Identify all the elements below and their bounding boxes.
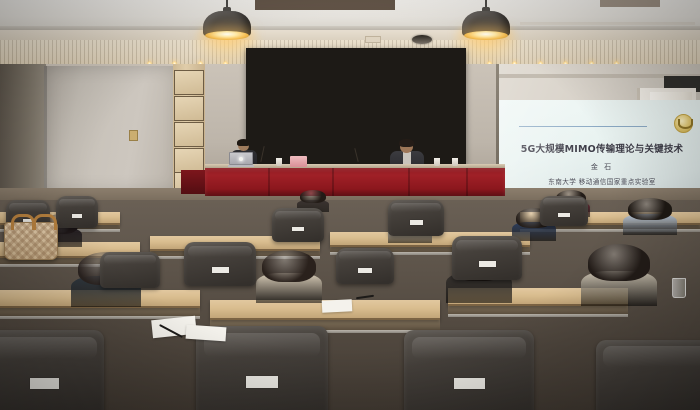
handbag-handle-right — [33, 214, 57, 230]
attendee-lightblue — [628, 198, 672, 232]
attendee-beige-coat-head — [588, 244, 650, 281]
presenter-hair — [399, 139, 414, 147]
chair-mid-2[interactable] — [272, 208, 324, 242]
ceiling-conduit — [520, 22, 695, 25]
chair-mid-4-seat-label — [358, 268, 372, 273]
skirt-fold-1 — [268, 168, 270, 196]
projection-screen-frame: 5G大规模MIMO传输理论与关键技术 金 石 东南大学 移动通信国家重点实验室 … — [246, 48, 466, 164]
wood-slab-3 — [174, 122, 204, 147]
chair-mid-4[interactable] — [336, 248, 394, 284]
chair-front-2-seat-label — [246, 376, 278, 388]
chair-right-3-seat-label — [558, 213, 570, 217]
handbag-handle-left — [11, 214, 35, 230]
chair-right-1[interactable] — [388, 200, 444, 236]
slide-title: 5G大规模MIMO传输理论与关键技术 — [499, 141, 700, 155]
attendee-lightblue-head — [628, 198, 672, 220]
paper-sheet-3 — [322, 299, 353, 313]
slide-author: 金 石 — [499, 162, 700, 172]
ceiling-sensor-icon — [365, 36, 381, 43]
chair-right-2[interactable] — [452, 236, 522, 280]
pendant-lamp-right — [462, 0, 510, 44]
wall-switch-plate[interactable] — [129, 130, 138, 141]
paper-sheet-2 — [186, 325, 227, 342]
chair-right-1-seat-label — [410, 220, 423, 225]
lecture-hall-photo: 5G大规模MIMO传输理论与关键技术 金 石 东南大学 移动通信国家重点实验室 … — [0, 0, 700, 410]
chair-front-3-seat-label — [454, 378, 485, 389]
cup-right — [452, 158, 458, 166]
wood-slab-2 — [174, 96, 204, 121]
slide-divider-rule — [519, 126, 647, 127]
presenter-shirt — [403, 152, 411, 164]
apple-logo-icon — [239, 157, 243, 161]
skirt-fold-3 — [408, 168, 410, 196]
pendant-lamp-left — [203, 0, 251, 44]
laptop-base — [228, 165, 254, 167]
cup-left — [276, 158, 282, 166]
chair-back-left-2-seat-label — [72, 214, 82, 218]
chair-back-left-2[interactable] — [56, 196, 98, 228]
slide-affiliation: 东南大学 移动通信国家重点实验室 — [499, 176, 700, 186]
chair-mid-1-seat-label — [212, 267, 229, 273]
chair-front-4[interactable] — [596, 340, 700, 410]
operator-hair — [237, 139, 250, 146]
attendee-row0-left-head — [300, 190, 326, 203]
macbook-laptop[interactable] — [228, 152, 254, 167]
attendee-plaid — [262, 250, 316, 298]
head-table-red-skirt — [205, 168, 505, 196]
drinking-glass — [672, 278, 686, 298]
attendee-row0-left — [300, 190, 326, 210]
left-projection-blind — [44, 66, 180, 192]
left-wall-shadow — [0, 64, 46, 194]
chair-mid-2-seat-label — [292, 227, 304, 231]
skirt-fold-2 — [332, 168, 334, 196]
chair-mid-1[interactable] — [184, 242, 256, 286]
cup-center — [434, 158, 440, 166]
pink-item-on-table — [290, 156, 307, 167]
desk-row2-right-rail — [448, 314, 628, 317]
attendee-beige-coat — [588, 244, 650, 300]
attendee-plaid-head — [262, 250, 316, 282]
chair-front-1[interactable] — [0, 330, 104, 410]
wood-slab-1 — [174, 70, 204, 95]
chair-right-2-seat-label — [479, 261, 496, 267]
ceiling-dark-panel-right — [600, 0, 660, 7]
handbag-on-desk — [4, 222, 58, 260]
university-emblem-icon — [674, 114, 693, 133]
chair-front-1-seat-label — [30, 378, 59, 389]
lamp-bulb-glow — [205, 31, 249, 40]
chair-right-3[interactable] — [540, 196, 588, 226]
blind-fold — [44, 66, 47, 192]
head-table-side-skirt — [181, 170, 207, 194]
ceiling-dark-panel — [255, 0, 395, 10]
skirt-fold-4 — [466, 168, 468, 196]
chair-front-3[interactable] — [404, 330, 534, 410]
chair-mid-3[interactable] — [100, 252, 160, 288]
lamp-bulb-glow — [464, 31, 508, 40]
ceiling-vent-icon — [412, 35, 432, 44]
